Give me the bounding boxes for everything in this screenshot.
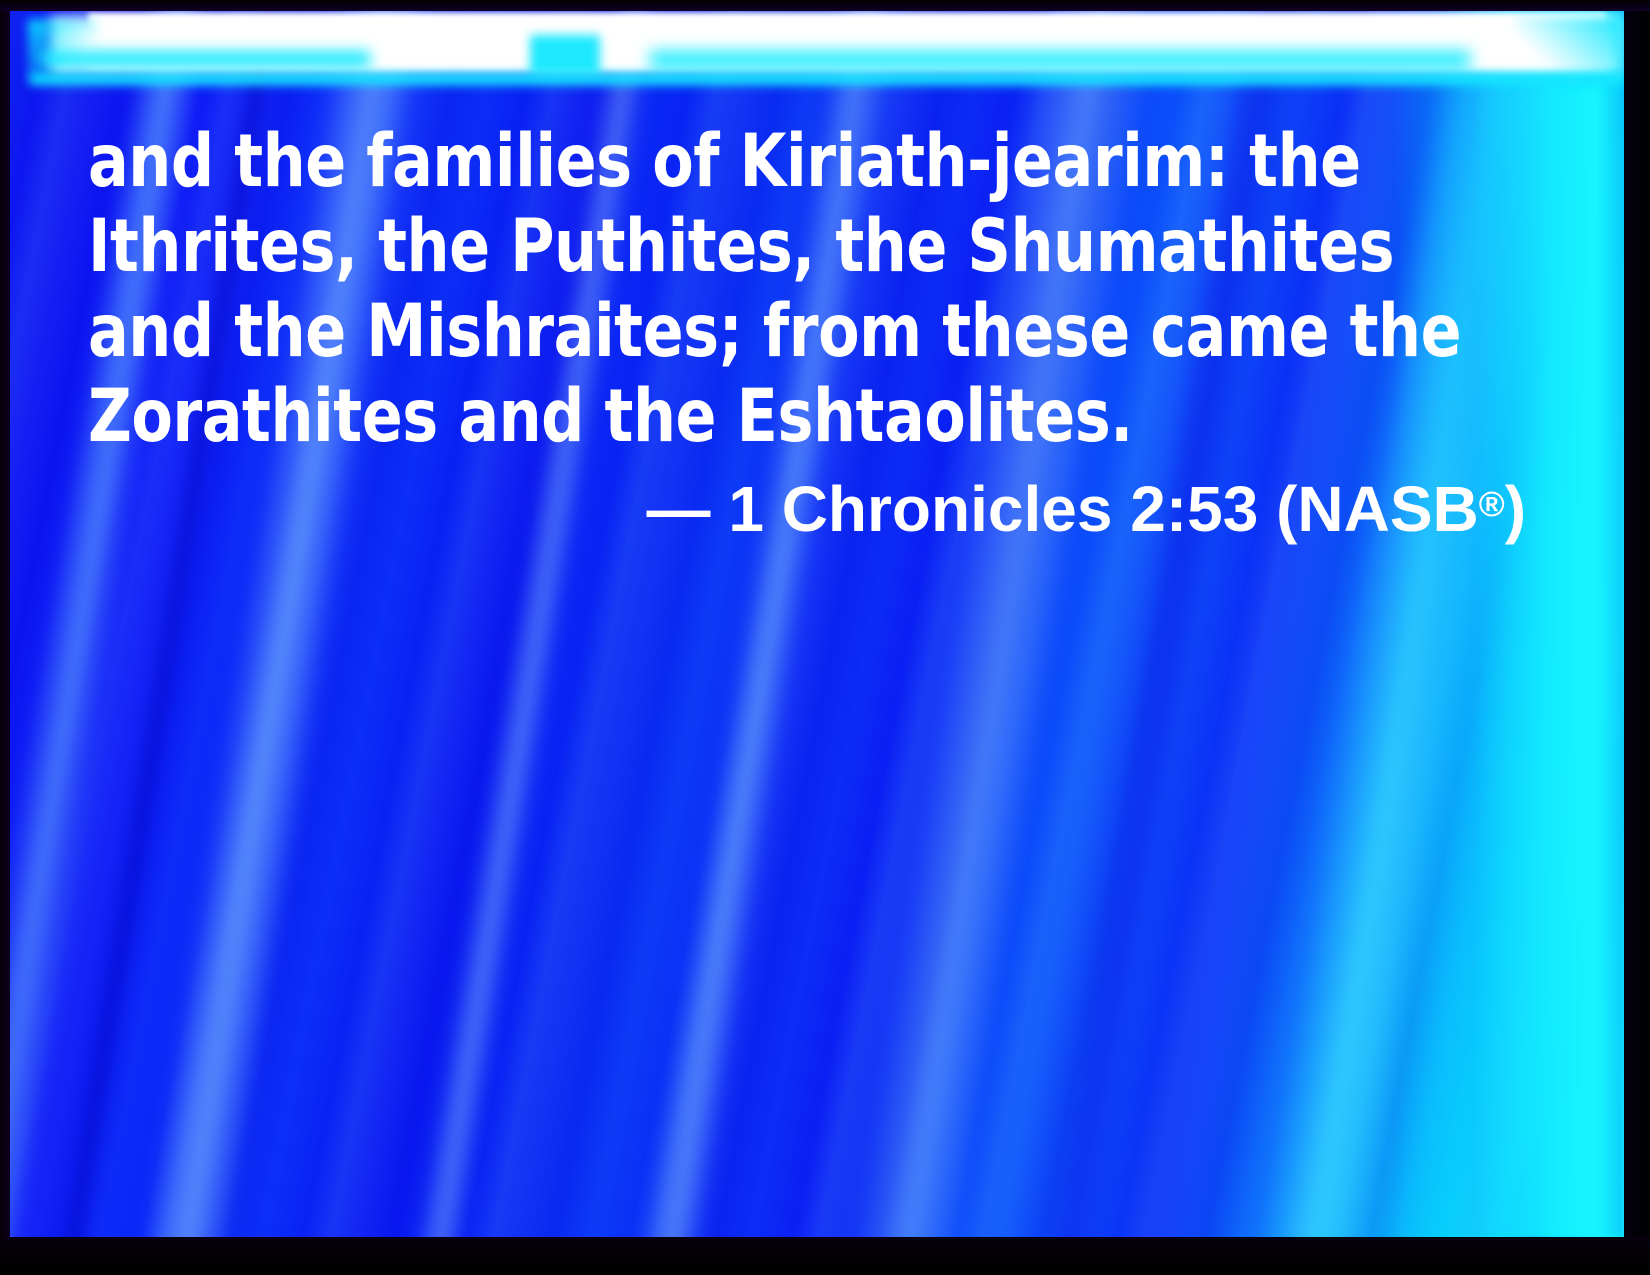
attribution-dash: — — [647, 473, 711, 545]
glow-cyan-streak — [650, 51, 1470, 69]
attribution-book: 1 Chronicles — [728, 473, 1112, 545]
attribution-spacer — [711, 473, 729, 545]
verse-line: Ithrites, the Puthites, the Shumathites — [88, 204, 1440, 289]
glow-cyan-streak — [530, 35, 600, 75]
verse-text-block: and the families of Kiriath-jearim: the … — [88, 119, 1558, 459]
top-glow-band — [10, 11, 1624, 85]
glow-corner-left — [28, 19, 98, 81]
frame-border-right — [1624, 0, 1650, 1275]
registered-trademark-icon: ® — [1479, 485, 1505, 524]
attribution-translation: NASB — [1297, 473, 1478, 545]
attribution-close-paren: ) — [1505, 473, 1526, 545]
frame-border-left — [0, 0, 10, 1275]
verse-line: and the families of Kiriath-jearim: the — [88, 119, 1440, 204]
attribution-line: — 1 Chronicles 2:53 (NASB®) — [88, 468, 1526, 546]
verse-line: Zorathites and the Eshtaolites. — [88, 374, 1440, 459]
glow-cyan-edge — [30, 73, 1624, 85]
attribution-chapter-verse: 2:53 — [1130, 473, 1258, 545]
attribution-open-paren: ( — [1276, 473, 1297, 545]
verse-line: and the Mishraites; from these came the — [88, 289, 1440, 374]
attribution-spacer — [1112, 473, 1130, 545]
frame-border-bottom — [0, 1237, 1650, 1275]
scripture-slide: and the families of Kiriath-jearim: the … — [0, 0, 1650, 1275]
verse-attribution: — 1 Chronicles 2:53 (NASB®) — [88, 468, 1558, 546]
frame-border-top — [0, 0, 1650, 11]
slide-background: and the families of Kiriath-jearim: the … — [10, 11, 1624, 1237]
glow-corner-right — [1514, 17, 1624, 83]
attribution-spacer — [1258, 473, 1276, 545]
